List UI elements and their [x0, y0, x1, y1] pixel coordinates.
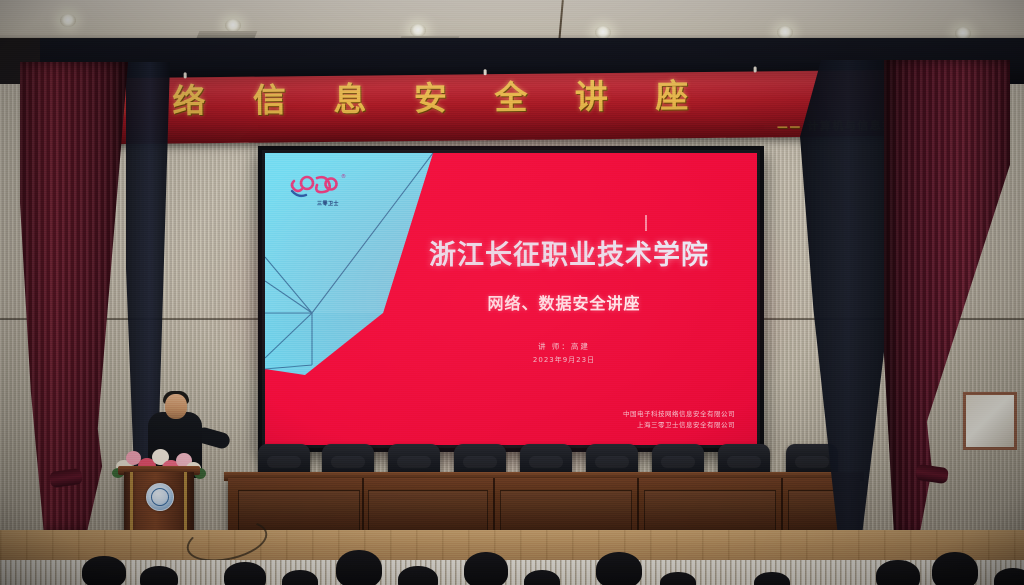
auditorium-photo: 网 络 信 息 安 全 讲 座 —— 计算机与信息技术学院	[0, 0, 1024, 585]
audience-head	[336, 550, 382, 585]
sanling-weishi-logo: ® 三零卫士	[287, 173, 349, 215]
slide-presenter: 讲 师：高建	[265, 341, 743, 352]
audience-head	[660, 572, 696, 585]
registered-mark: ®	[341, 174, 346, 180]
led-display-screen: ® 三零卫士 浙江长征职业技术学院 网络、数据安全讲座 讲 师：高建 2023年…	[258, 146, 764, 452]
logo-label: 三零卫士	[317, 200, 339, 207]
audience-head	[82, 556, 126, 585]
banner-hook-icon	[484, 69, 487, 75]
banner-hook-icon	[754, 66, 757, 72]
slide-org-line: 上海三零卫士信息安全有限公司	[623, 420, 735, 431]
table-panel	[368, 490, 488, 534]
audience-head	[140, 566, 178, 585]
slide-org-line: 中国电子科技网络信息安全有限公司	[623, 409, 735, 420]
emblem-inner-ring	[151, 488, 169, 506]
wall-mounted-panel	[963, 392, 1017, 450]
audience-head	[398, 566, 438, 585]
slide-organizations: 中国电子科技网络信息安全有限公司 上海三零卫士信息安全有限公司	[623, 409, 735, 431]
audience-head	[876, 560, 920, 585]
slide-main-title: 浙江长征职业技术学院	[265, 239, 743, 273]
presentation-slide: ® 三零卫士 浙江长征职业技术学院 网络、数据安全讲座 讲 师：高建 2023年…	[265, 153, 757, 445]
table-panel	[500, 490, 632, 534]
audience-head	[282, 570, 318, 585]
slide-subtitle: 网络、数据安全讲座	[265, 293, 743, 315]
audience-head	[464, 552, 508, 585]
audience-head	[524, 570, 560, 585]
speaker-head	[165, 394, 187, 419]
audience-head	[754, 572, 790, 585]
audience-head	[932, 552, 978, 585]
audience-head	[596, 552, 642, 585]
slide-date: 2023年9月23日	[265, 355, 743, 365]
audience-head	[224, 562, 266, 585]
ceiling-spotlight	[60, 14, 76, 27]
podium-school-emblem	[146, 483, 174, 511]
slide-text-caret	[645, 215, 647, 231]
banner-hook-icon	[184, 72, 187, 78]
logo-mark-icon	[287, 173, 349, 203]
table-panel	[644, 490, 776, 534]
